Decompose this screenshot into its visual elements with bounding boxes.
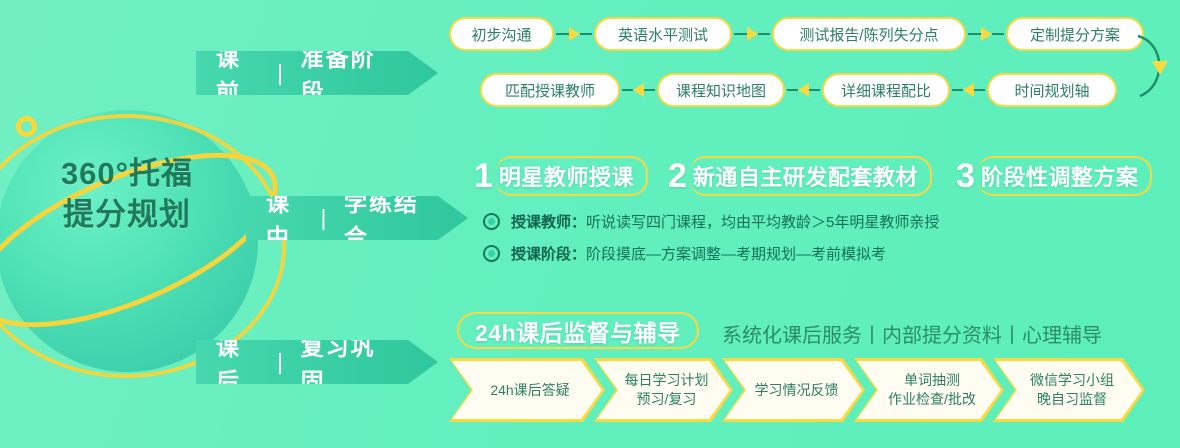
arrow-right-icon bbox=[734, 27, 770, 41]
stage-banner-pre: 课前 丨 准备阶段 bbox=[196, 51, 438, 95]
arrow-right-icon bbox=[556, 27, 592, 41]
pre-row2-item-1[interactable]: 匹配授课教师 bbox=[480, 73, 620, 107]
banner-post-divider: 丨 bbox=[269, 345, 294, 379]
banner-post-right: 复习巩固 bbox=[301, 328, 392, 396]
banner-pre-right: 准备阶段 bbox=[301, 39, 392, 107]
pre-row2-item-4[interactable]: 时间规划轴 bbox=[987, 73, 1117, 107]
pre-row1-item-3[interactable]: 测试报告/陈列失分点 bbox=[772, 17, 966, 51]
post-card-2-line2: 预习/复习 bbox=[625, 390, 709, 409]
post-card-4-line2: 作业检查/批改 bbox=[888, 390, 976, 409]
post-card-4-line1: 单词抽测 bbox=[888, 371, 976, 390]
mid-bullet-2-key: 授课阶段： bbox=[511, 243, 586, 264]
mid-bullet-2: 授课阶段： 阶段摸底—方案调整—考期规划—考前模拟考 bbox=[483, 243, 886, 264]
post-card-5-line1: 微信学习小组 bbox=[1030, 371, 1114, 390]
post-card-3-line1: 学习情况反馈 bbox=[755, 381, 839, 400]
globe-title: 360°托福 提分规划 bbox=[2, 154, 252, 236]
post-card-1[interactable]: 24h课后答疑 bbox=[449, 358, 605, 422]
pre-row2-item-2[interactable]: 课程知识地图 bbox=[657, 73, 785, 107]
mid-chip-1[interactable]: 1 明星教师授课 bbox=[474, 160, 648, 192]
pre-row1-item-2[interactable]: 英语水平测试 bbox=[594, 17, 732, 51]
arrow-left-icon bbox=[622, 83, 655, 97]
arrow-down-connector-icon bbox=[1132, 30, 1180, 104]
globe-sphere bbox=[0, 110, 258, 372]
mid-bullet-2-value: 阶段摸底—方案调整—考期规划—考前模拟考 bbox=[586, 243, 886, 264]
post-card-4[interactable]: 单词抽测 作业检查/批改 bbox=[854, 358, 1004, 422]
ring-bullet-icon bbox=[483, 213, 500, 230]
mid-chip-2-label: 新通自主研发配套教材 bbox=[689, 156, 932, 196]
pre-row2-item-3[interactable]: 详细课程配比 bbox=[822, 73, 950, 107]
mid-chip-2-number: 2 bbox=[668, 159, 687, 193]
arrow-left-icon bbox=[787, 83, 820, 97]
post-title-pill[interactable]: 24h课后监督与辅导 bbox=[457, 312, 699, 349]
post-card-2[interactable]: 每日学习计划 预习/复习 bbox=[594, 358, 733, 422]
mid-chip-3-label: 阶段性调整方案 bbox=[977, 156, 1153, 196]
stage-banner-post: 课后 丨 复习巩固 bbox=[196, 340, 438, 384]
mid-chip-3[interactable]: 3 阶段性调整方案 bbox=[956, 160, 1152, 192]
infographic-canvas: 360°托福 提分规划 课前 丨 准备阶段 初步沟通 英语水平测试 测试报告/陈… bbox=[0, 0, 1180, 448]
arrow-right-icon bbox=[968, 27, 1004, 41]
post-subtitle: 系统化课后服务丨内部提分资料丨心理辅导 bbox=[722, 319, 1102, 348]
post-card-1-line1: 24h课后答疑 bbox=[490, 381, 569, 400]
mid-chip-1-label: 明星教师授课 bbox=[495, 156, 648, 196]
post-card-5[interactable]: 微信学习小组 晚自习监督 bbox=[993, 358, 1145, 422]
globe-title-line2: 提分规划 bbox=[2, 195, 252, 236]
post-card-5-line2: 晚自习监督 bbox=[1030, 390, 1114, 409]
banner-mid-right: 学练结合 bbox=[344, 184, 422, 252]
banner-mid-divider: 丨 bbox=[312, 201, 337, 235]
mid-bullet-1: 授课教师： 听说读写四门课程，均由平均教龄＞5年明星教师亲授 bbox=[483, 211, 939, 232]
post-card-3[interactable]: 学习情况反馈 bbox=[722, 358, 865, 422]
arrow-left-icon bbox=[952, 83, 985, 97]
globe-title-line1: 360°托福 bbox=[2, 154, 252, 195]
pre-row1-item-4[interactable]: 定制提分方案 bbox=[1006, 17, 1144, 51]
orbit-dot-icon bbox=[16, 116, 37, 137]
mid-bullet-1-key: 授课教师： bbox=[511, 211, 586, 232]
mid-chip-2[interactable]: 2 新通自主研发配套教材 bbox=[668, 160, 932, 192]
stage-banner-mid: 课中 丨 学练结合 bbox=[246, 196, 468, 240]
post-card-2-line1: 每日学习计划 bbox=[625, 371, 709, 390]
mid-chip-3-number: 3 bbox=[956, 159, 975, 193]
banner-pre-divider: 丨 bbox=[269, 56, 294, 90]
mid-bullet-1-value: 听说读写四门课程，均由平均教龄＞5年明星教师亲授 bbox=[586, 211, 939, 232]
mid-chip-1-number: 1 bbox=[474, 159, 493, 193]
ring-bullet-icon bbox=[483, 245, 500, 262]
pre-row1-item-1[interactable]: 初步沟通 bbox=[449, 17, 554, 51]
